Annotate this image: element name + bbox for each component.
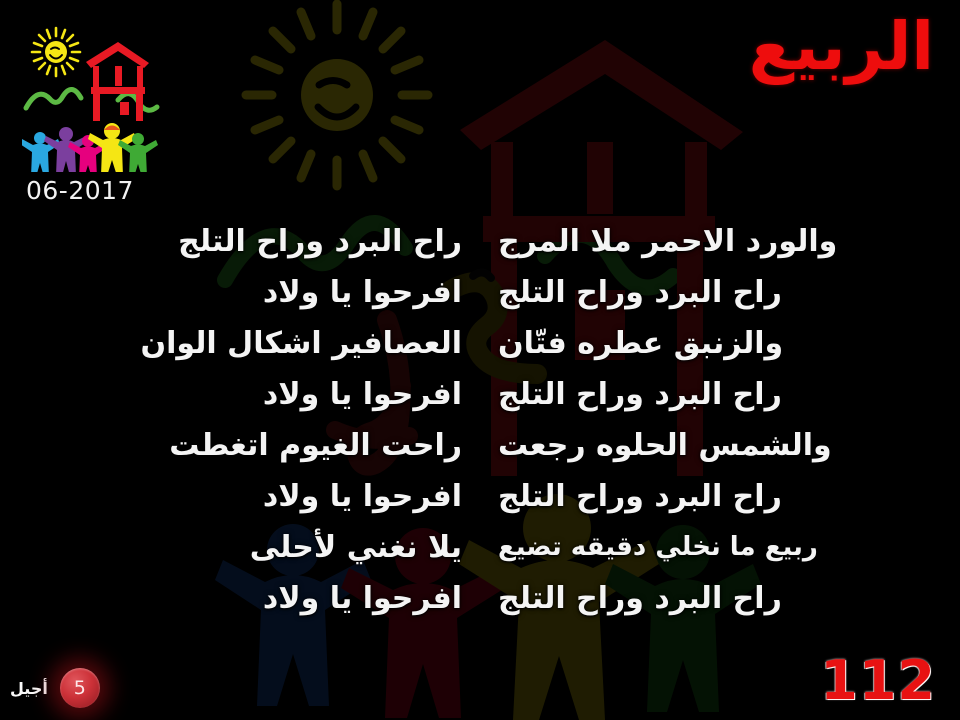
- lyric-line: افرحوا يا ولاد: [0, 369, 466, 420]
- page-number-badge[interactable]: 5: [60, 668, 100, 708]
- song-number: 112: [820, 649, 936, 712]
- page-title: الربيع: [749, 14, 934, 80]
- watermark-sun-icon: [246, 4, 428, 186]
- lyric-line: راح البرد وراح التلج: [494, 573, 944, 624]
- lyric-line: راح البرد وراح التلج: [0, 216, 466, 267]
- lyrics-body: والورد الاحمر ملا المرج راح البرد وراح ا…: [0, 216, 960, 636]
- lyrics-column-right: راح البرد وراح التلج افرحوا يا ولاد العص…: [0, 216, 480, 636]
- lyric-line: راحت الغيوم اتغطت: [0, 420, 466, 471]
- house-icon: [86, 42, 149, 121]
- brand-label: أجيل: [10, 679, 48, 698]
- lyric-line: والورد الاحمر ملا المرج: [494, 216, 944, 267]
- lyric-line: والزنبق عطره فتّان: [494, 318, 944, 369]
- lyric-line: والشمس الحلوه رجعت: [494, 420, 944, 471]
- lyric-line: افرحوا يا ولاد: [0, 267, 466, 318]
- lyrics-column-left: والورد الاحمر ملا المرج راح البرد وراح ا…: [480, 216, 960, 636]
- footer-left: أجيل 5: [10, 668, 100, 708]
- slide-canvas: 06-2017 الربيع والورد الاحمر ملا المرج ر…: [0, 0, 960, 720]
- lyric-line: افرحوا يا ولاد: [0, 471, 466, 522]
- lyric-line: راح البرد وراح التلج: [494, 471, 944, 522]
- lyric-line: راح البرد وراح التلج: [494, 369, 944, 420]
- lyric-line: راح البرد وراح التلج: [494, 267, 944, 318]
- slide-date: 06-2017: [26, 176, 134, 205]
- lyric-line: يلا نغني لأحلى: [0, 522, 466, 573]
- lyric-line: العصافير اشكال الوان: [0, 318, 466, 369]
- sun-icon: [32, 28, 80, 76]
- lyric-line: افرحوا يا ولاد: [0, 573, 466, 624]
- children-icon: [22, 123, 158, 172]
- ajyal-logo: [22, 22, 162, 172]
- lyric-line: ربيع ما نخلي دقيقه تضيع: [494, 522, 944, 573]
